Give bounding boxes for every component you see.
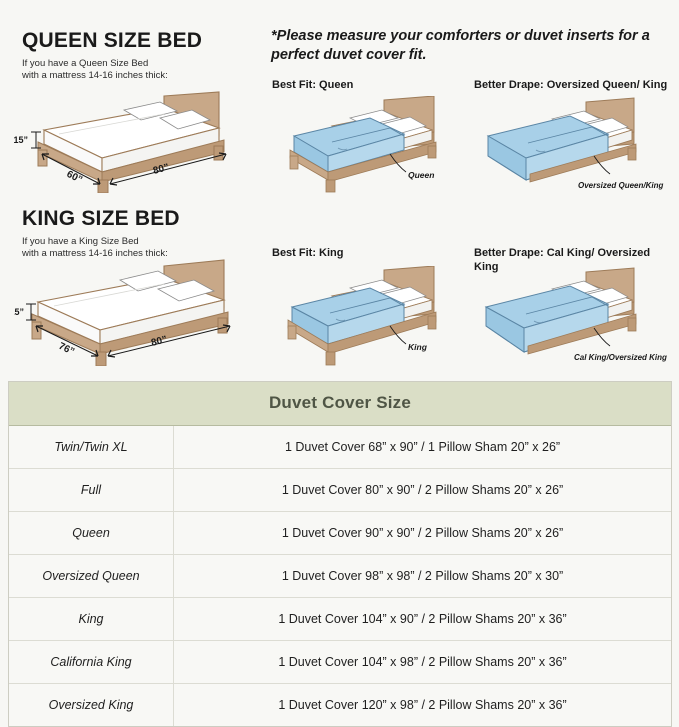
queen-section-header: QUEEN SIZE BED If you have a Queen Size … — [22, 30, 257, 82]
heading-better-drape-queen: Better Drape: Oversized Queen/ King — [474, 78, 674, 92]
row-contents: 1 Duvet Cover 80” x 90” / 2 Pillow Shams… — [174, 469, 671, 511]
row-contents: 1 Duvet Cover 90” x 90” / 2 Pillow Shams… — [174, 512, 671, 554]
row-contents: 1 Duvet Cover 104” x 90” / 2 Pillow Sham… — [174, 598, 671, 640]
queen-subtitle: If you have a Queen Size Bed with a matt… — [22, 58, 257, 82]
annotation-queen: Queen — [408, 170, 434, 180]
measurement-note: *Please measure your comforters or duvet… — [271, 27, 671, 65]
row-contents: 1 Duvet Cover 104” x 98” / 2 Pillow Sham… — [174, 641, 671, 683]
table-body: Twin/Twin XL 1 Duvet Cover 68” x 90” / 1… — [9, 426, 671, 726]
table-row: Oversized King 1 Duvet Cover 120” x 98” … — [9, 683, 671, 726]
table-row: Queen 1 Duvet Cover 90” x 90” / 2 Pillow… — [9, 511, 671, 554]
table-row: California King 1 Duvet Cover 104” x 98”… — [9, 640, 671, 683]
queen-bed-illustration: 15” 60” 80” — [14, 88, 254, 193]
table-row: Oversized Queen 1 Duvet Cover 98” x 98” … — [9, 554, 671, 597]
annotation-cal-king-oversized-king: Cal King/Oversized King — [574, 353, 667, 362]
king-title: KING SIZE BED — [22, 208, 257, 229]
better-drape-queen-illustration: Oversized Queen/King — [474, 96, 674, 194]
row-size: Oversized Queen — [9, 555, 174, 597]
heading-best-fit-king: Best Fit: King — [272, 246, 462, 260]
annotation-oversized-queen-king: Oversized Queen/King — [578, 181, 663, 190]
row-size: Full — [9, 469, 174, 511]
annotation-king: King — [408, 342, 428, 352]
king-width-label: 76” — [57, 341, 76, 358]
row-size: King — [9, 598, 174, 640]
row-contents: 1 Duvet Cover 120” x 98” / 2 Pillow Sham… — [174, 684, 671, 726]
row-size: Twin/Twin XL — [9, 426, 174, 468]
king-height-label: 15” — [14, 307, 24, 317]
best-fit-queen-illustration: Queen — [272, 96, 468, 194]
diagram-area: QUEEN SIZE BED If you have a Queen Size … — [0, 0, 679, 370]
king-section-header: KING SIZE BED If you have a King Size Be… — [22, 208, 257, 260]
table-row: King 1 Duvet Cover 104” x 90” / 2 Pillow… — [9, 597, 671, 640]
heading-best-fit-queen: Best Fit: Queen — [272, 78, 462, 92]
best-fit-king-illustration: King — [272, 266, 468, 366]
duvet-cover-size-table: Duvet Cover Size Twin/Twin XL 1 Duvet Co… — [8, 381, 672, 727]
table-row: Full 1 Duvet Cover 80” x 90” / 2 Pillow … — [9, 468, 671, 511]
row-size: Queen — [9, 512, 174, 554]
king-subtitle: If you have a King Size Bed with a mattr… — [22, 236, 257, 260]
king-bed-illustration: 15” 76” 80” — [14, 258, 254, 366]
row-contents: 1 Duvet Cover 68” x 90” / 1 Pillow Sham … — [174, 426, 671, 468]
table-header: Duvet Cover Size — [9, 382, 671, 426]
row-contents: 1 Duvet Cover 98” x 98” / 2 Pillow Shams… — [174, 555, 671, 597]
row-size: Oversized King — [9, 684, 174, 726]
row-size: California King — [9, 641, 174, 683]
queen-title: QUEEN SIZE BED — [22, 30, 257, 51]
better-drape-king-illustration: Cal King/Oversized King — [474, 266, 674, 366]
queen-height-label: 15” — [14, 135, 28, 145]
table-row: Twin/Twin XL 1 Duvet Cover 68” x 90” / 1… — [9, 426, 671, 468]
